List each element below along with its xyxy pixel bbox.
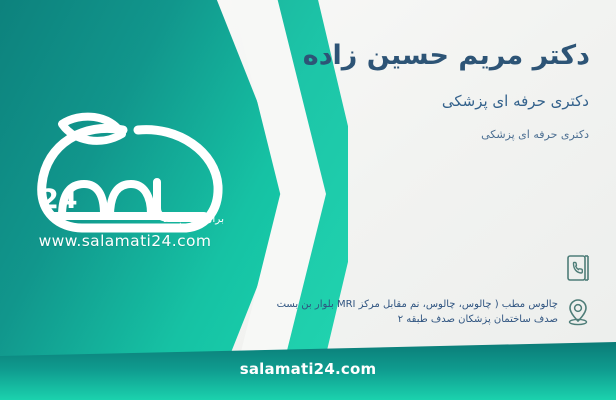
doctor-name: دکتر مریم حسین زاده bbox=[303, 40, 590, 71]
contact-row-phone[interactable] bbox=[178, 248, 598, 288]
business-card: 24 برای یک لبخند www.salamati24.com دکتر… bbox=[0, 0, 616, 400]
map-pin-icon bbox=[558, 292, 598, 332]
brand-tagline: برای یک لبخند bbox=[163, 213, 224, 225]
doctor-specialty-secondary: دکتری حرفه ای پزشکی bbox=[481, 128, 589, 141]
contact-block: چالوس مطب ( چالوس، چالوس، نم مقابل مرکز … bbox=[178, 248, 598, 336]
address-value: چالوس مطب ( چالوس، چالوس، نم مقابل مرکز … bbox=[178, 297, 558, 327]
contact-row-address[interactable]: چالوس مطب ( چالوس، چالوس، نم مقابل مرکز … bbox=[178, 292, 598, 332]
svg-text:24: 24 bbox=[40, 184, 78, 215]
phone-book-icon bbox=[558, 248, 598, 288]
footer-website[interactable]: salamati24.com bbox=[0, 360, 616, 378]
doctor-specialty: دکتری حرفه ای پزشکی bbox=[442, 92, 589, 110]
address-line-1: چالوس مطب ( چالوس، چالوس، نم مقابل مرکز … bbox=[277, 299, 558, 310]
address-line-2: صدف ساختمان پزشکان صدف طبقه ۲ bbox=[184, 312, 558, 327]
